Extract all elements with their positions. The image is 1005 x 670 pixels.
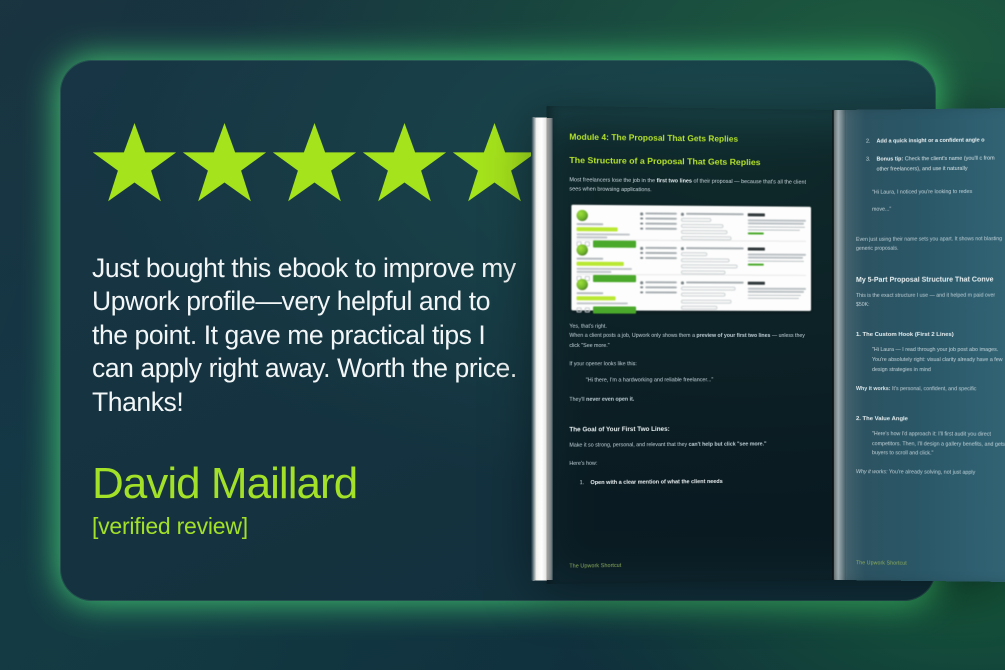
text-line bbox=[645, 228, 677, 230]
text-line bbox=[577, 268, 632, 270]
section-title: The Structure of a Proposal That Gets Re… bbox=[569, 155, 810, 168]
line-2: When a client posts a job, Upwork only s… bbox=[569, 332, 810, 351]
bullet-icon bbox=[640, 291, 643, 294]
stat-item bbox=[640, 217, 677, 220]
table-row bbox=[577, 243, 806, 276]
flag-icon[interactable] bbox=[585, 307, 590, 312]
part-2-quote: "Here's how I'd approach it: I'll first … bbox=[872, 430, 1005, 460]
part-1-quote: "Hi Laura — I read through your job post… bbox=[872, 346, 1005, 376]
skill-chip bbox=[681, 224, 724, 228]
price-label bbox=[748, 213, 765, 217]
bullet-icon bbox=[640, 257, 643, 260]
review-text: Just bought this ebook to improve my Upw… bbox=[92, 252, 522, 419]
intro-text-bold: first two lines bbox=[657, 178, 692, 184]
text-line bbox=[748, 220, 806, 222]
text-line bbox=[645, 282, 677, 284]
why-label: Why it works: bbox=[856, 469, 888, 475]
bullet-icon bbox=[640, 212, 643, 215]
skill-chip bbox=[681, 286, 736, 290]
text-line bbox=[748, 229, 800, 231]
skill-chip bbox=[681, 270, 726, 274]
line-1: Yes, that's right. bbox=[569, 323, 810, 333]
proposal-identity bbox=[577, 244, 637, 274]
part-2-heading: 2. The Value Angle bbox=[856, 416, 1005, 423]
text-line bbox=[748, 254, 806, 256]
text-line bbox=[686, 213, 744, 215]
module-title: Module 4: The Proposal That Gets Replies bbox=[569, 133, 810, 145]
star-icon bbox=[272, 122, 357, 204]
text-line bbox=[577, 302, 628, 304]
intro-text-a: Most freelancers lose the job in the bbox=[569, 177, 656, 184]
list-number: 3. bbox=[866, 156, 871, 175]
line-2-a: When a client posts a job, Upwork only s… bbox=[569, 333, 696, 339]
part-2-why: Why it works: You're already solving, no… bbox=[856, 468, 1005, 478]
example-quote-name-cont: move..." bbox=[872, 205, 1005, 216]
text-line bbox=[748, 260, 805, 262]
skills-column bbox=[681, 245, 744, 275]
text-line bbox=[686, 282, 744, 284]
freelancer-name bbox=[577, 258, 604, 260]
stat-item bbox=[681, 213, 744, 216]
heres-how: Here's how: bbox=[569, 458, 810, 469]
stat-item bbox=[640, 291, 677, 294]
text-line bbox=[748, 298, 799, 300]
text-line bbox=[645, 218, 677, 220]
avatar bbox=[577, 279, 588, 290]
text-line bbox=[577, 233, 630, 235]
why-label: Why it works: bbox=[856, 386, 891, 392]
intro-paragraph: Most freelancers lose the job in the fir… bbox=[569, 176, 810, 197]
highlight-bar bbox=[577, 227, 618, 231]
avatar bbox=[577, 244, 588, 255]
price-label bbox=[748, 247, 765, 251]
skill-chip bbox=[681, 299, 732, 303]
star-icon bbox=[362, 122, 447, 204]
bullet-icon bbox=[681, 213, 684, 216]
price-label bbox=[748, 282, 765, 285]
stats-column bbox=[640, 210, 677, 240]
example-quote-name: "Hi Laura, I noticed you're looking to r… bbox=[872, 188, 1005, 199]
goal-text: Make it so strong, personal, and relevan… bbox=[569, 440, 810, 451]
text-line bbox=[645, 252, 677, 254]
why-text: It's personal, confident, and specific bbox=[891, 386, 977, 392]
skill-chip bbox=[681, 258, 730, 262]
list-item: 2.Add a quick insight or a confident ang… bbox=[866, 136, 1005, 147]
list-number: 1. bbox=[580, 479, 585, 489]
line-4-a: They'll bbox=[569, 397, 586, 403]
bullet-icon bbox=[640, 222, 643, 225]
name-paragraph: Even just using their name sets you apar… bbox=[856, 235, 1005, 255]
example-quote-bad: "Hi there, I'm a hardworking and reliabl… bbox=[586, 376, 810, 386]
text-line bbox=[645, 213, 677, 215]
bullet-icon bbox=[640, 217, 643, 220]
bullet-icon bbox=[681, 281, 684, 284]
part-1-heading: 1. The Custom Hook (First 2 Lines) bbox=[856, 332, 1005, 338]
reviewer-name: David Maillard bbox=[92, 461, 544, 508]
text-line bbox=[748, 226, 805, 228]
bullet-icon bbox=[640, 227, 643, 230]
text-line bbox=[577, 271, 612, 273]
proposal-identity bbox=[577, 279, 637, 310]
page-footer: The Upwork Shortcut bbox=[856, 560, 907, 567]
part-1-why: Why it works: It's personal, confident, … bbox=[856, 385, 1005, 394]
stat-item bbox=[640, 227, 677, 230]
text-line bbox=[748, 257, 803, 259]
skill-chip bbox=[681, 293, 726, 297]
avatar bbox=[577, 210, 588, 221]
list-item-text: Bonus tip: Check the client's name (you'… bbox=[877, 155, 1005, 175]
skill-chip bbox=[681, 236, 732, 240]
testimonial-content: Just bought this ebook to improve my Upw… bbox=[92, 122, 544, 540]
table-row bbox=[577, 278, 806, 310]
line-4: They'll never even open it. bbox=[569, 395, 810, 405]
price-column bbox=[748, 280, 806, 310]
upwork-proposal-list-screenshot bbox=[571, 205, 811, 311]
why-text: You're already solving, not just apply bbox=[888, 469, 976, 476]
text-line bbox=[748, 223, 804, 225]
book-right-page: 2.Add a quick insight or a confident ang… bbox=[834, 108, 1005, 582]
skill-chip bbox=[681, 218, 711, 222]
stat-item bbox=[681, 247, 744, 250]
verified-review-badge: [verified review] bbox=[92, 512, 544, 541]
text-line bbox=[645, 247, 677, 249]
stat-item bbox=[640, 222, 677, 225]
page-footer: The Upwork Shortcut bbox=[569, 563, 621, 570]
structure-heading: My 5-Part Proposal Structure That Conve bbox=[856, 276, 1005, 284]
star-icon bbox=[182, 122, 267, 204]
stat-item bbox=[640, 252, 677, 255]
text-line bbox=[577, 236, 608, 238]
text-line bbox=[645, 292, 677, 294]
structure-text: This is the exact structure I use — and … bbox=[856, 291, 1005, 310]
bullet-icon bbox=[640, 281, 643, 284]
ebook-preview: Module 4: The Proposal That Gets Replies… bbox=[531, 110, 1005, 585]
list-item: 1.Open with a clear mention of what the … bbox=[580, 477, 810, 489]
view-more-link[interactable] bbox=[748, 264, 764, 266]
freelancer-name bbox=[577, 223, 604, 225]
hire-button[interactable] bbox=[593, 306, 636, 313]
line-3: If your opener looks like this: bbox=[569, 360, 810, 370]
stat-item bbox=[681, 281, 744, 284]
line-2-bold: preview of your first two lines bbox=[696, 333, 770, 339]
list-item-text: Add a quick insight or a confident angle… bbox=[877, 137, 985, 148]
text-line bbox=[645, 223, 677, 225]
list-number: 2. bbox=[866, 138, 871, 148]
list-item-text: Open with a clear mention of what the cl… bbox=[590, 478, 722, 489]
bullet-icon bbox=[640, 247, 643, 250]
star-rating bbox=[92, 122, 544, 204]
star-icon bbox=[92, 122, 177, 204]
proposal-identity bbox=[577, 210, 637, 240]
text-line bbox=[748, 288, 806, 290]
text-line bbox=[645, 287, 677, 289]
highlight-bar bbox=[577, 262, 624, 266]
skill-chip bbox=[681, 252, 707, 256]
text-line bbox=[686, 248, 744, 250]
bullet-icon bbox=[681, 247, 684, 250]
stat-item bbox=[640, 286, 677, 289]
stat-item bbox=[640, 281, 677, 284]
skills-column bbox=[681, 279, 744, 309]
table-row bbox=[577, 209, 806, 242]
goal-text-a: Make it so strong, personal, and relevan… bbox=[569, 441, 688, 448]
bullet-icon bbox=[640, 286, 643, 289]
price-column bbox=[748, 245, 806, 274]
thumbs-up-icon[interactable] bbox=[577, 307, 582, 312]
skill-chip bbox=[681, 230, 728, 234]
list-item: 3.Bonus tip: Check the client's name (yo… bbox=[866, 155, 1005, 175]
goal-heading: The Goal of Your First Two Lines: bbox=[569, 425, 810, 433]
goal-text-bold: can't help but click "see more." bbox=[689, 441, 767, 448]
text-line bbox=[645, 257, 677, 259]
price-column bbox=[748, 211, 806, 241]
skills-column bbox=[681, 211, 744, 241]
text-line bbox=[748, 291, 804, 293]
line-4-bold: never even open it. bbox=[586, 397, 634, 403]
freelancer-name bbox=[577, 292, 604, 294]
view-more-link[interactable] bbox=[748, 233, 764, 235]
star-icon bbox=[452, 122, 537, 204]
stat-item bbox=[640, 247, 677, 250]
skill-chip bbox=[681, 264, 738, 268]
stat-item bbox=[640, 212, 677, 215]
stats-column bbox=[640, 245, 677, 275]
stat-item bbox=[640, 257, 677, 260]
skill-chip bbox=[681, 306, 718, 310]
highlight-bar bbox=[577, 296, 616, 300]
bullet-icon bbox=[640, 252, 643, 255]
book-left-page: Module 4: The Proposal That Gets Replies… bbox=[547, 106, 832, 585]
text-line bbox=[748, 294, 802, 296]
stats-column bbox=[640, 279, 677, 309]
row-actions bbox=[577, 306, 637, 313]
bonus-tip-label: Bonus tip: bbox=[877, 157, 904, 163]
